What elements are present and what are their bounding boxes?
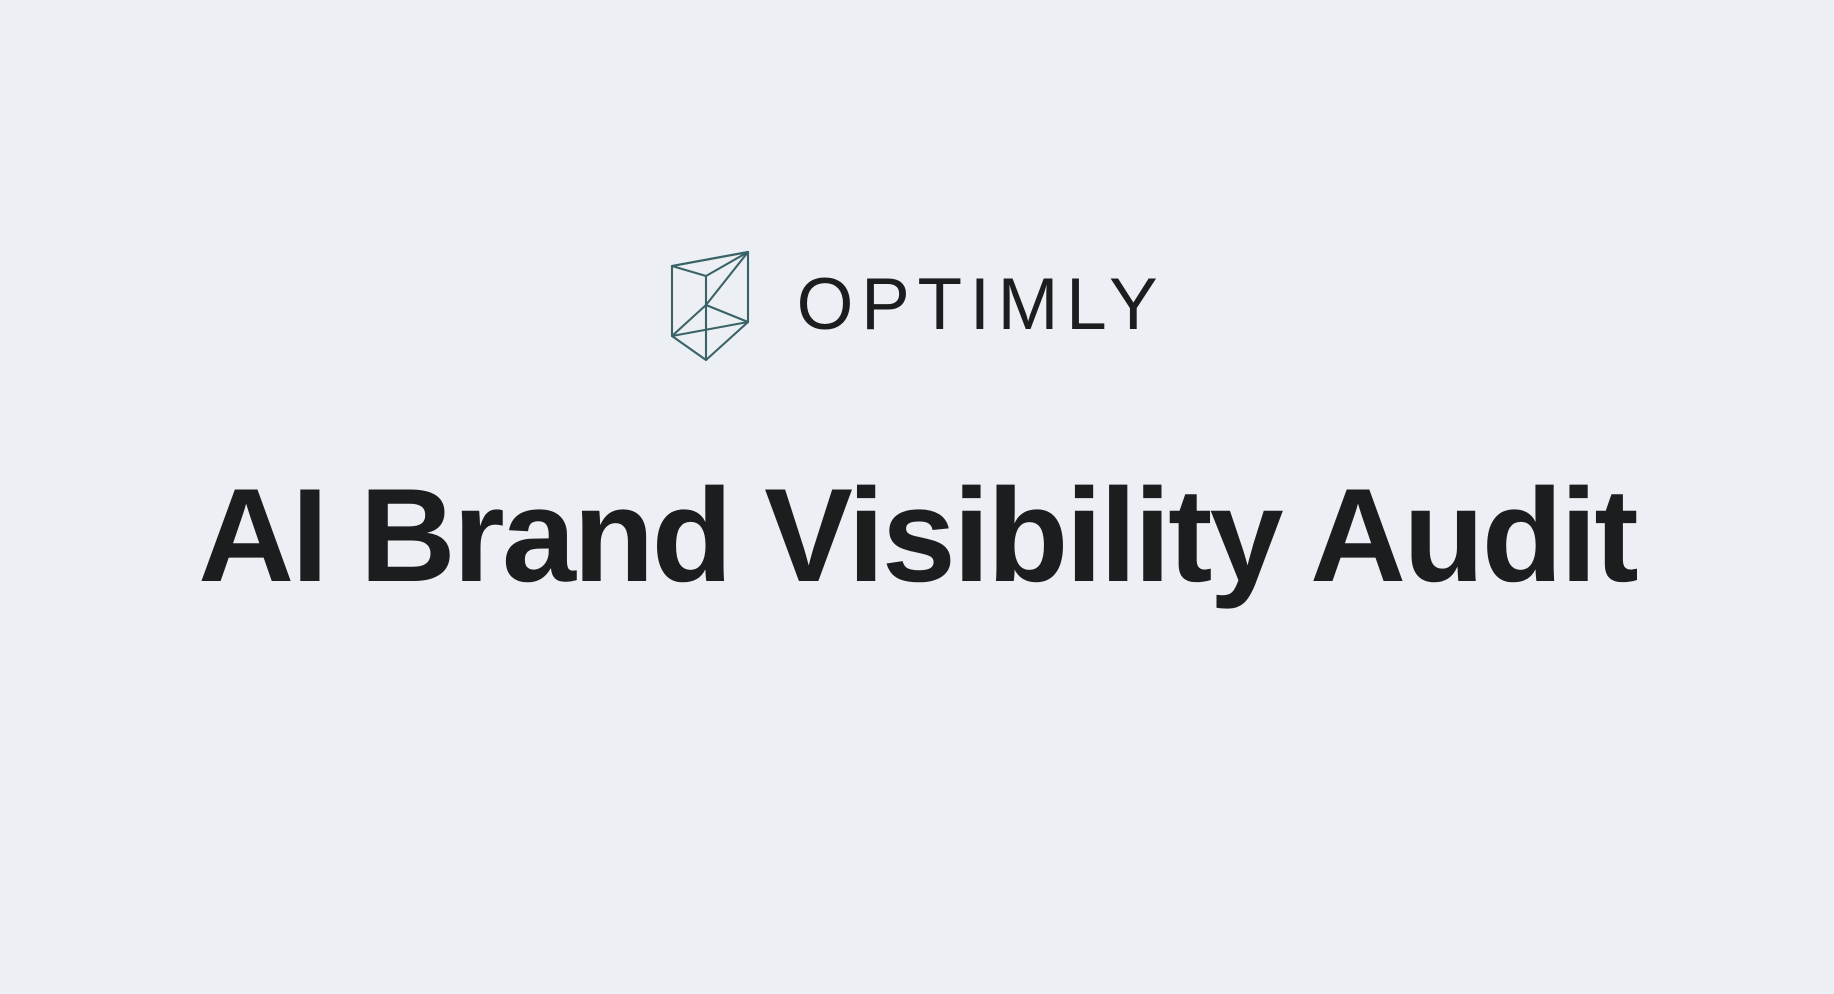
title-slide: OPTIMLY AI Brand Visibility Audit — [0, 0, 1834, 994]
page-title: AI Brand Visibility Audit — [198, 462, 1636, 611]
triangular-prism-wireframe-icon — [669, 243, 751, 363]
brand-lockup: OPTIMLY — [0, 243, 1834, 363]
brand-wordmark: OPTIMLY — [797, 266, 1166, 341]
headline-container: AI Brand Visibility Audit — [0, 462, 1834, 611]
